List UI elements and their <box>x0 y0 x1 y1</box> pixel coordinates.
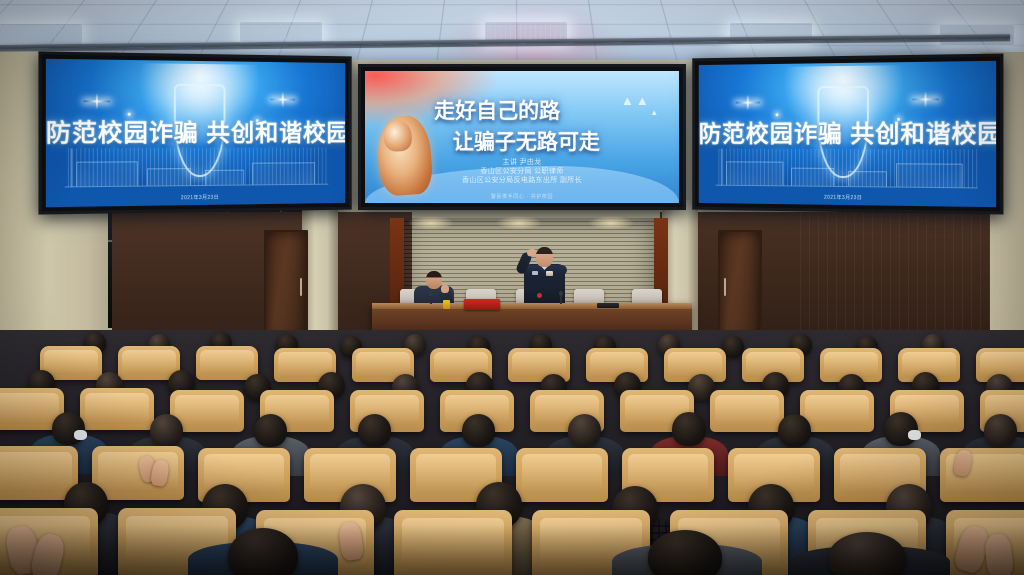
red-box-item[interactable] <box>464 299 500 310</box>
auditorium-seat[interactable] <box>92 446 184 500</box>
seat-cushion <box>122 350 175 375</box>
head-table-top <box>372 303 692 309</box>
audience-head <box>150 414 183 447</box>
seat-cushion <box>85 393 149 424</box>
skyline-block-4 <box>896 163 963 186</box>
seat-cushion <box>512 352 565 377</box>
officer-head <box>536 247 553 267</box>
skyline-block-1 <box>76 161 138 186</box>
yellow-cup-item[interactable] <box>443 300 450 309</box>
audience-head <box>778 414 811 447</box>
auditorium-seat[interactable] <box>516 448 608 502</box>
right-led-screen[interactable]: 防范校园诈骗 共创和谐校园 2021年3月23日 <box>692 53 1003 214</box>
campus-skyline-graphic <box>716 148 978 188</box>
skyline-block-2 <box>147 168 192 186</box>
auditorium-seat[interactable] <box>196 346 258 380</box>
center-led-screen[interactable]: ▲▲ ▲ 走好自己的路 让骗子无路可走 主讲 尹由龙 香山区公安分局 公职律师 … <box>358 64 686 210</box>
seated-official-head <box>426 271 442 289</box>
officer-nameplate-icon <box>532 271 538 275</box>
audience-head <box>52 412 85 445</box>
seat-cushion <box>0 452 72 492</box>
skyline-block-4 <box>252 162 315 185</box>
seat-cushion <box>805 395 869 426</box>
ceiling-light-1 <box>0 24 82 44</box>
birds-icon-2: ▲ <box>650 108 660 117</box>
audience-head <box>984 414 1017 447</box>
skyline-block-1 <box>726 161 783 185</box>
left-led-screen[interactable]: 防范校园诈骗 共创和谐校园 2021年3月23日 <box>38 51 351 214</box>
center-screen-speaker-3: 香山区公安分局反电路东出所 副所长 <box>365 175 679 185</box>
audience-head <box>254 414 287 447</box>
auditorium-photo: 防范校园诈骗 共创和谐校园 2021年3月23日 ▲▲ ▲ 走好自己的路 让骗子… <box>0 0 1024 575</box>
officer-emblem-icon <box>537 293 542 298</box>
officer-badge-icon <box>546 271 553 276</box>
right-screen-headline: 防范校园诈骗 共创和谐校园 <box>699 113 996 149</box>
microphone-icon[interactable] <box>430 294 432 304</box>
face-mask-icon <box>74 430 87 440</box>
auditorium-seat[interactable] <box>80 388 154 430</box>
left-screen-surface: 防范校园诈骗 共创和谐校园 2021年3月23日 <box>46 59 345 207</box>
seat-cushion <box>590 352 643 377</box>
skyline-block-3 <box>848 171 887 186</box>
seat-cushion <box>175 395 239 426</box>
spotlight-2 <box>496 216 542 230</box>
skyline-block-2 <box>791 168 834 186</box>
seated-official-hand <box>441 285 449 293</box>
spotlight-3 <box>588 216 634 230</box>
door-handle-right <box>724 278 726 296</box>
center-screen-headline-2: 让骗子无路可走 <box>453 126 600 156</box>
seat-cushion <box>668 352 721 377</box>
door-right[interactable] <box>718 230 762 342</box>
face-mask-icon <box>908 430 921 440</box>
audience-head <box>884 412 918 446</box>
lion-head <box>383 120 413 152</box>
left-screen-headline: 防范校园诈骗 共创和谐校园 <box>46 112 345 148</box>
spotlight-1 <box>408 216 454 230</box>
seat-cushion <box>0 393 59 424</box>
center-screen-headline-1: 走好自己的路 <box>434 95 560 125</box>
auditorium-seat[interactable] <box>800 390 874 432</box>
microphone-icon-2[interactable] <box>560 294 562 304</box>
door-handle-left <box>300 278 302 296</box>
skyline-block-3 <box>205 170 243 185</box>
door-left[interactable] <box>264 230 308 342</box>
birds-icon: ▲▲ <box>621 93 651 108</box>
center-screen-footer: 警民携手同心 · 共护校园 <box>365 193 679 200</box>
seat-cushion <box>715 395 779 426</box>
seat-cushion <box>522 454 601 494</box>
audience-shadow <box>0 525 1024 575</box>
laptop-item[interactable] <box>597 303 619 308</box>
auditorium-seat[interactable] <box>940 448 1024 502</box>
seat-cushion <box>200 350 253 375</box>
right-screen-surface: 防范校园诈骗 共创和谐校园 2021年3月23日 <box>699 61 996 207</box>
audience-head <box>568 414 601 447</box>
audience-head <box>462 414 495 447</box>
audience-area <box>0 330 1024 575</box>
seat-cushion <box>44 350 97 375</box>
auditorium-seat[interactable] <box>710 390 784 432</box>
audience-head <box>358 414 391 447</box>
ceiling-light-2 <box>240 22 322 42</box>
campus-skyline-graphic <box>65 147 328 187</box>
sparkle-icon-4 <box>912 98 939 100</box>
audience-head <box>672 412 706 446</box>
center-screen-surface: ▲▲ ▲ 走好自己的路 让骗子无路可走 主讲 尹由龙 香山区公安分局 公职律师 … <box>365 71 679 203</box>
